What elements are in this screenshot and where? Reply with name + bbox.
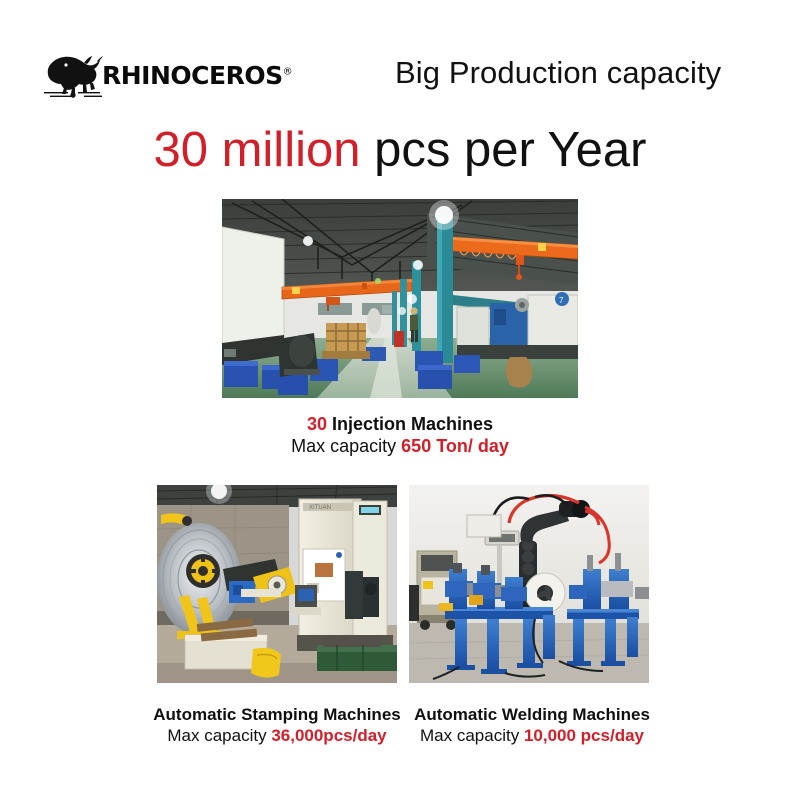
page-header: RHINOCEROS® Big Production capacity [0, 52, 800, 108]
rhinoceros-icon [40, 52, 106, 98]
caption-stamping-capacity: Max capacity 36,000pcs/day [145, 726, 409, 746]
svg-text:7: 7 [559, 296, 564, 305]
brand-logo: RHINOCEROS® [40, 52, 240, 104]
caption-stamping-capacity-value: 36,000pcs/day [271, 726, 386, 745]
caption-injection-label: Injection Machines [327, 414, 493, 434]
caption-stamping: Automatic Stamping Machines Max capacity… [145, 705, 409, 746]
capacity-unit: pcs per Year [360, 123, 646, 177]
caption-welding-title: Automatic Welding Machines [400, 705, 664, 725]
brand-wordmark: RHINOCEROS® [102, 63, 292, 88]
production-capacity-statement: 30 million pcs per Year [0, 126, 800, 175]
svg-text:XITUAN: XITUAN [309, 505, 331, 511]
caption-welding-capacity-prefix: Max capacity [420, 726, 524, 745]
caption-welding: Automatic Welding Machines Max capacity … [400, 705, 664, 746]
caption-injection-count: 30 [307, 414, 327, 434]
automatic-welding-machine-photo [409, 485, 649, 683]
factory-injection-workshop-photo: 7 [222, 199, 578, 398]
automatic-stamping-machine-photo: XITUAN [157, 485, 397, 683]
caption-stamping-title: Automatic Stamping Machines [145, 705, 409, 725]
capacity-number: 30 million [153, 123, 360, 177]
caption-injection-capacity-prefix: Max capacity [291, 436, 401, 456]
caption-stamping-capacity-prefix: Max capacity [167, 726, 271, 745]
caption-injection-title: 30 Injection Machines [225, 414, 575, 435]
caption-injection: 30 Injection Machines Max capacity 650 T… [225, 414, 575, 457]
brand-name-text: RHINOCEROS [102, 61, 283, 90]
page-title: Big Production capacity [395, 55, 721, 91]
caption-injection-capacity-value: 650 Ton/ day [401, 436, 509, 456]
caption-welding-capacity: Max capacity 10,000 pcs/day [400, 726, 664, 746]
registered-trademark-symbol: ® [283, 67, 293, 78]
caption-injection-capacity: Max capacity 650 Ton/ day [225, 436, 575, 457]
caption-welding-capacity-value: 10,000 pcs/day [524, 726, 644, 745]
